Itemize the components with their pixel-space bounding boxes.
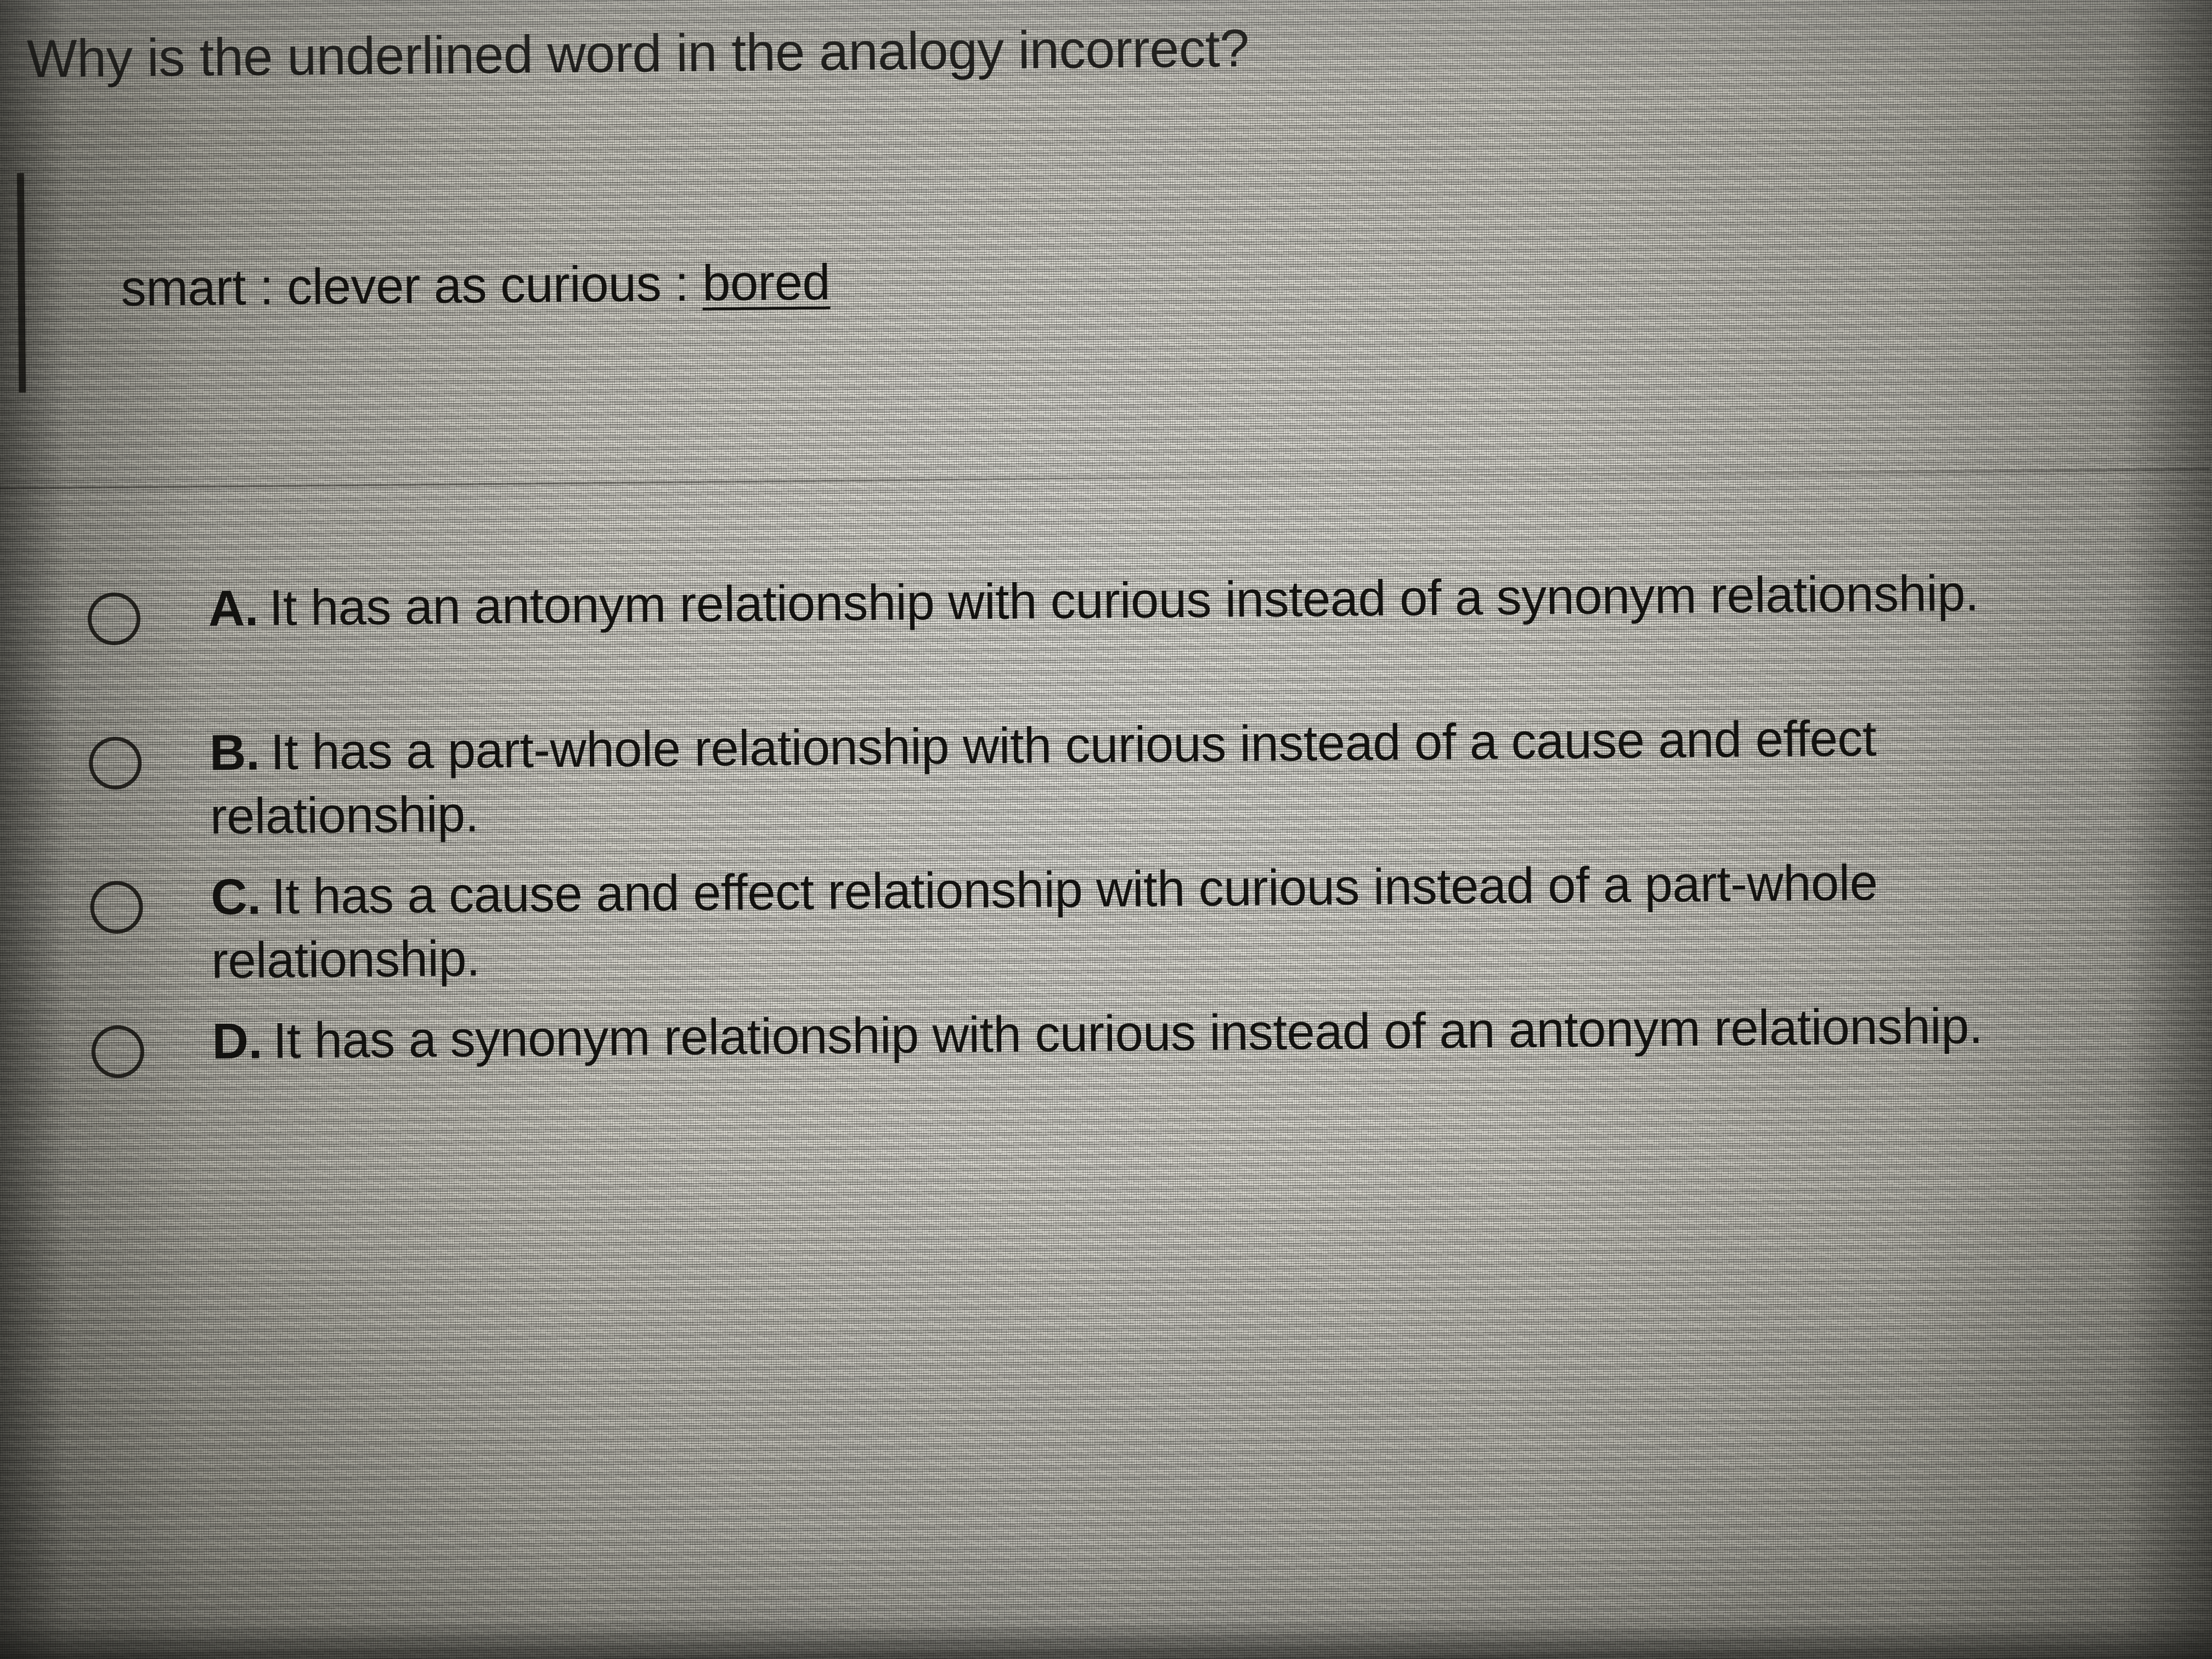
analogy-underlined-word: bored <box>702 255 831 312</box>
radio-button-d-icon[interactable] <box>91 1025 144 1079</box>
answer-option-a[interactable]: A.It has an antonym relationship with cu… <box>0 560 2211 689</box>
answer-choices-list: A.It has an antonym relationship with cu… <box>0 560 2212 1156</box>
analogy-blockquote: smart : clever as curious : bored <box>17 163 1171 392</box>
answer-b-body: B.It has a part-whole relationship with … <box>210 706 1994 849</box>
radio-button-c-icon[interactable] <box>90 881 143 934</box>
question-prompt: Why is the underlined word in the analog… <box>27 19 1250 89</box>
answer-option-b[interactable]: B.It has a part-whole relationship with … <box>0 704 2212 833</box>
radio-button-b-icon[interactable] <box>89 737 142 790</box>
analogy-text: smart : clever as curious : bored <box>121 254 830 318</box>
answer-d-text: It has a synonym relationship with curio… <box>273 998 1983 1069</box>
analogy-prefix: smart : clever as curious : <box>121 256 702 317</box>
answer-option-c[interactable]: C.It has a cause and effect relationship… <box>1 849 2212 978</box>
answer-c-body: C.It has a cause and effect relationship… <box>211 850 2039 993</box>
radio-button-a-icon[interactable] <box>87 592 140 646</box>
quiz-screen-photo: Why is the underlined word in the analog… <box>0 0 2212 1659</box>
answer-c-text: It has a cause and effect relationship w… <box>211 855 1878 989</box>
answer-a-body: A.It has an antonym relationship with cu… <box>208 561 2140 641</box>
answer-d-letter: D. <box>212 1013 262 1070</box>
answer-c-letter: C. <box>211 869 261 926</box>
answer-a-letter: A. <box>208 580 258 637</box>
answer-d-body: D.It has a synonym relationship with cur… <box>212 994 2121 1074</box>
answer-a-text: It has an antonym relationship with curi… <box>269 565 1979 636</box>
answer-b-letter: B. <box>210 725 260 781</box>
blockquote-bar <box>17 173 26 392</box>
answer-b-text: It has a part-whole relationship with cu… <box>210 710 1877 844</box>
answer-option-d[interactable]: D.It has a synonym relationship with cur… <box>2 993 2212 1122</box>
section-divider <box>0 468 2210 489</box>
quiz-content: Why is the underlined word in the analog… <box>0 0 2212 1659</box>
